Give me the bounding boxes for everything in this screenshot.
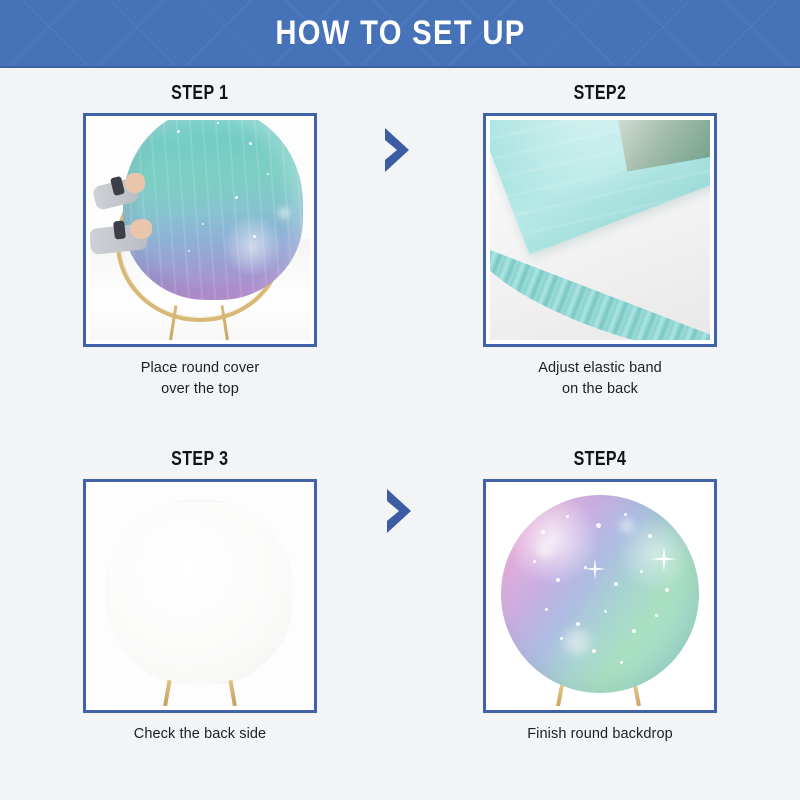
step-cell-1: STEP 1 xyxy=(0,68,400,434)
step-caption-3: Check the back side xyxy=(134,724,266,745)
sparkle-dot xyxy=(576,622,580,626)
step-caption-1: Place round cover over the top xyxy=(141,358,260,400)
steps-grid: STEP 1 xyxy=(0,68,800,800)
step-caption-2-line-1: Adjust elastic band xyxy=(538,358,662,379)
sparkle-star-icon xyxy=(584,558,606,580)
infographic-page: HOW TO SET UP STEP 1 xyxy=(0,0,800,800)
step-photo-2 xyxy=(490,120,710,340)
sparkle-dot xyxy=(632,629,636,633)
sparkle-dot xyxy=(188,250,190,252)
sparkle-dot xyxy=(541,530,545,534)
step-caption-3-line-1: Check the back side xyxy=(134,724,266,745)
step-title-4: STEP4 xyxy=(574,448,627,471)
step-title-3: STEP 3 xyxy=(171,448,228,471)
sparkle-dot xyxy=(648,534,652,538)
sparkle-dot xyxy=(655,614,658,617)
sparkle-star-icon xyxy=(651,546,677,572)
sparkle-glow xyxy=(620,519,634,533)
sparkle-dot xyxy=(596,523,601,528)
chevron-right-icon-1 xyxy=(379,126,413,174)
sparkle-glow xyxy=(537,542,553,558)
step-caption-1-line-2: over the top xyxy=(141,379,260,400)
sparkle-dot xyxy=(556,578,560,582)
sparkle-glow xyxy=(278,207,290,219)
sparkle-dot xyxy=(604,610,607,613)
step-title-1: STEP 1 xyxy=(171,82,228,105)
step-photo-frame-2 xyxy=(483,113,717,347)
sparkle-dot xyxy=(640,570,643,573)
step-cell-3: STEP 3 Check the back side xyxy=(0,434,400,800)
photo1-hand-lower xyxy=(130,219,152,239)
sparkle-dot xyxy=(624,513,627,516)
step-photo-1 xyxy=(90,120,310,340)
sparkle-dot xyxy=(665,588,669,592)
photo1-hand-upper xyxy=(125,173,145,193)
photo4-finished-backdrop xyxy=(501,495,699,693)
step-cell-4: STEP4 xyxy=(400,434,800,800)
step-photo-frame-3 xyxy=(83,479,317,713)
sparkle-dot xyxy=(202,223,204,225)
sparkle-dot xyxy=(217,122,219,124)
sparkle-dot xyxy=(235,196,238,199)
sparkle-dot xyxy=(566,515,569,518)
header-banner: HOW TO SET UP xyxy=(0,0,800,68)
photo4-sparkles xyxy=(501,495,699,693)
photo3-white-back-panel xyxy=(105,499,294,688)
sparkle-dot xyxy=(253,235,256,238)
step-photo-3 xyxy=(90,486,310,706)
sparkle-dot xyxy=(560,637,563,640)
sparkle-dot xyxy=(620,661,623,664)
step-title-2: STEP2 xyxy=(574,82,627,105)
step-caption-2: Adjust elastic band on the back xyxy=(538,358,662,400)
sparkle-dot xyxy=(177,130,180,133)
step-caption-4-line-1: Finish round backdrop xyxy=(527,724,673,745)
sparkle-dot xyxy=(267,173,269,175)
photo1-sparkles xyxy=(123,120,303,300)
sparkle-dot xyxy=(545,608,548,611)
sparkle-dot xyxy=(592,649,596,653)
photo1-cuff-lower xyxy=(113,221,126,240)
sparkle-dot xyxy=(249,142,252,145)
sparkle-dot xyxy=(614,582,618,586)
step-caption-4: Finish round backdrop xyxy=(527,724,673,745)
step-photo-4 xyxy=(490,486,710,706)
photo1-gradient-cover xyxy=(123,120,303,300)
step-photo-frame-4 xyxy=(483,479,717,713)
sparkle-glow xyxy=(564,629,590,655)
chevron-right-icon-2 xyxy=(381,487,415,535)
step-caption-1-line-1: Place round cover xyxy=(141,358,260,379)
sparkle-dot xyxy=(533,560,536,563)
page-title: HOW TO SET UP xyxy=(275,14,525,53)
step-cell-2: STEP2 Adjust elastic band on the back xyxy=(400,68,800,434)
step-photo-frame-1 xyxy=(83,113,317,347)
step-caption-2-line-2: on the back xyxy=(538,379,662,400)
